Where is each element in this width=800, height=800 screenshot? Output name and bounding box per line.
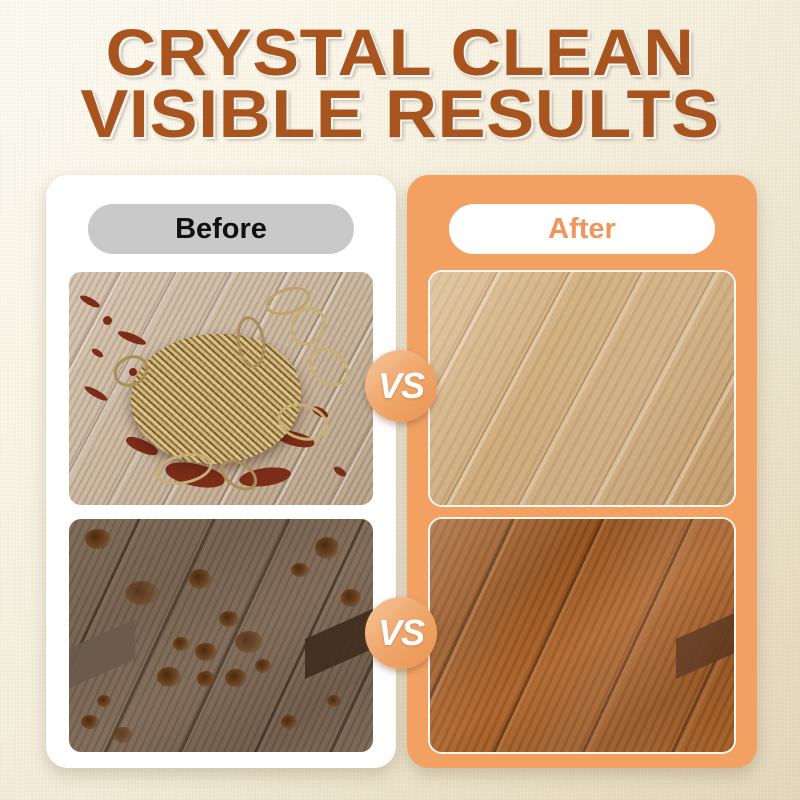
clean-light-wood-texture <box>430 272 734 505</box>
before-photo-stained <box>69 519 373 752</box>
stain-spot <box>113 727 133 743</box>
vs-badge-label: VS <box>378 365 424 407</box>
after-photo-polished-hardwood <box>430 519 734 752</box>
after-label-pill: After <box>449 204 715 254</box>
vs-badge-top: VS <box>365 350 437 422</box>
stain-spot <box>255 659 271 673</box>
stain-spot <box>97 695 111 707</box>
poster-canvas: CRYSTAL CLEAN VISIBLE RESULTS Before <box>0 0 800 800</box>
before-label-text: Before <box>175 213 267 246</box>
vs-badge-bottom: VS <box>365 597 437 669</box>
stain-spot <box>81 715 99 729</box>
headline-line-2: VISIBLE RESULTS <box>0 83 800 146</box>
before-panel: Before <box>46 175 396 768</box>
stain-spot <box>189 569 211 589</box>
before-photo-spaghetti <box>69 272 373 505</box>
after-panel: After <box>407 175 757 768</box>
stain-spot <box>341 589 361 607</box>
stain-spot <box>85 529 111 549</box>
stain-spot <box>125 581 159 605</box>
stain-spot <box>327 695 341 707</box>
stain-spot <box>281 715 297 729</box>
before-label-pill: Before <box>88 204 354 254</box>
stain-spot <box>235 631 263 653</box>
after-label-text: After <box>548 213 616 246</box>
headline-line-1: CRYSTAL CLEAN <box>0 22 800 83</box>
stain-spot <box>195 643 217 661</box>
after-photo-clean-laminate <box>430 272 734 505</box>
stain-spot <box>291 563 309 577</box>
stain-spot <box>315 537 339 559</box>
sauce-splatter <box>103 316 112 325</box>
stain-spot <box>197 671 215 687</box>
stain-spot <box>173 637 189 651</box>
vs-badge-label: VS <box>378 612 424 654</box>
stain-spot <box>157 667 181 687</box>
stain-spot <box>219 611 239 627</box>
stain-spot <box>225 669 247 687</box>
page-title: CRYSTAL CLEAN VISIBLE RESULTS <box>0 22 800 147</box>
